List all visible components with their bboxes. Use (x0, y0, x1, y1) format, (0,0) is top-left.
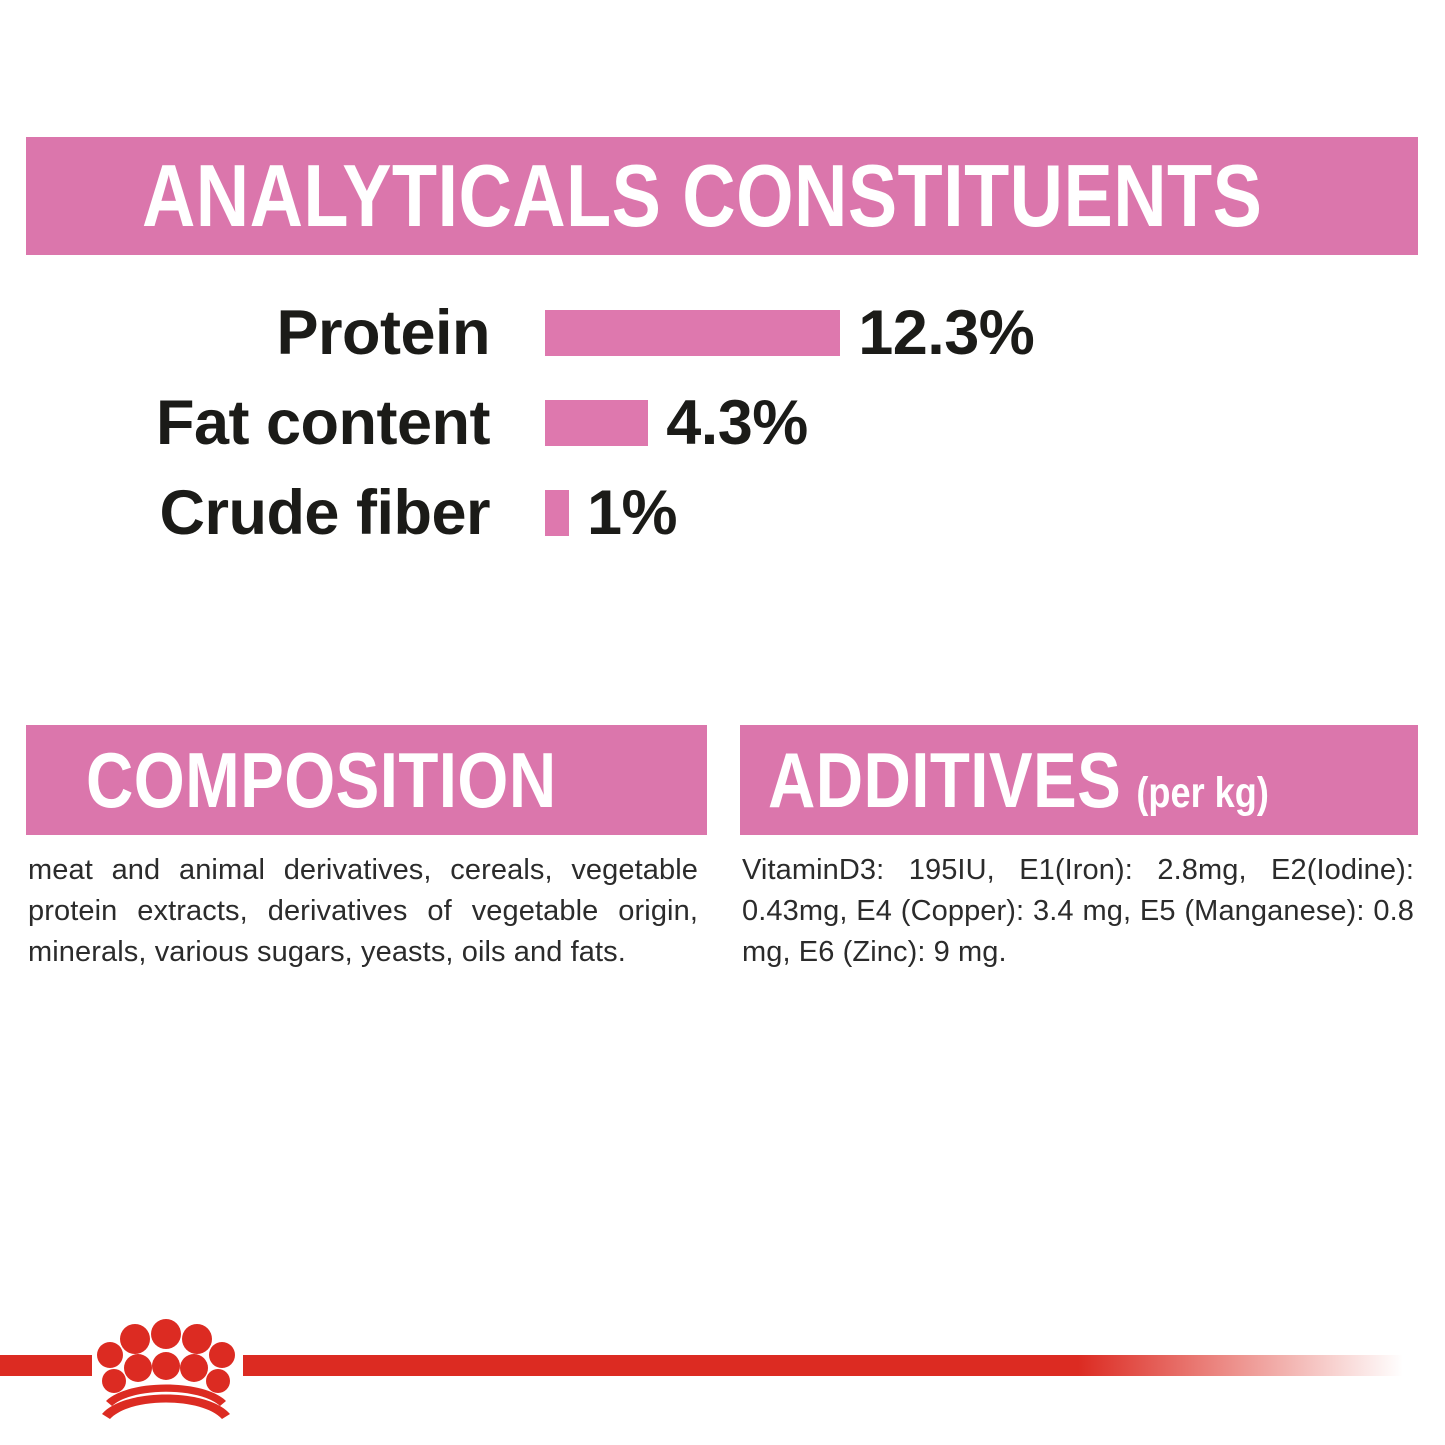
additives-heading: ADDITIVES (768, 741, 1121, 819)
footer-rule-right (243, 1355, 1403, 1376)
bar-group-fat-content: 4.3% (545, 392, 808, 455)
product-label-panel: ANALYTICALS CONSTITUENTS Protein 12.3% F… (0, 0, 1445, 1445)
analyticals-bar-chart: Protein 12.3% Fat content 4.3% Crude fib… (0, 288, 1445, 568)
analyticals-header-band: ANALYTICALS CONSTITUENTS (26, 137, 1418, 255)
brand-footer (0, 1318, 1445, 1428)
composition-heading: COMPOSITION (86, 741, 557, 819)
bar-crude-fiber (545, 490, 569, 536)
constituent-value-fat-content: 4.3% (666, 392, 808, 455)
constituent-label-fat-content: Fat content (0, 392, 490, 455)
bar-group-crude-fiber: 1% (545, 482, 677, 545)
table-row: Crude fiber 1% (0, 468, 1445, 558)
additives-body-text: VitaminD3: 195IU, E1(Iron): 2.8mg, E2(Io… (742, 850, 1414, 974)
footer-rule-left (0, 1355, 92, 1376)
additives-header-band: ADDITIVES (per kg) (740, 725, 1418, 835)
table-row: Fat content 4.3% (0, 378, 1445, 468)
analyticals-heading: ANALYTICALS CONSTITUENTS (142, 152, 1262, 240)
constituent-value-protein: 12.3% (858, 302, 1034, 365)
composition-header-band: COMPOSITION (26, 725, 707, 835)
additives-heading-group: ADDITIVES (per kg) (768, 741, 1269, 819)
constituent-label-crude-fiber: Crude fiber (0, 482, 490, 545)
royal-canin-crown-icon (96, 1318, 236, 1422)
constituent-label-protein: Protein (0, 302, 490, 365)
constituent-value-crude-fiber: 1% (587, 482, 677, 545)
composition-body-text: meat and animal derivatives, cereals, ve… (28, 850, 698, 974)
table-row: Protein 12.3% (0, 288, 1445, 378)
bar-fat-content (545, 400, 648, 446)
bar-protein (545, 310, 840, 356)
bar-group-protein: 12.3% (545, 302, 1034, 365)
additives-heading-unit: (per kg) (1136, 772, 1268, 815)
